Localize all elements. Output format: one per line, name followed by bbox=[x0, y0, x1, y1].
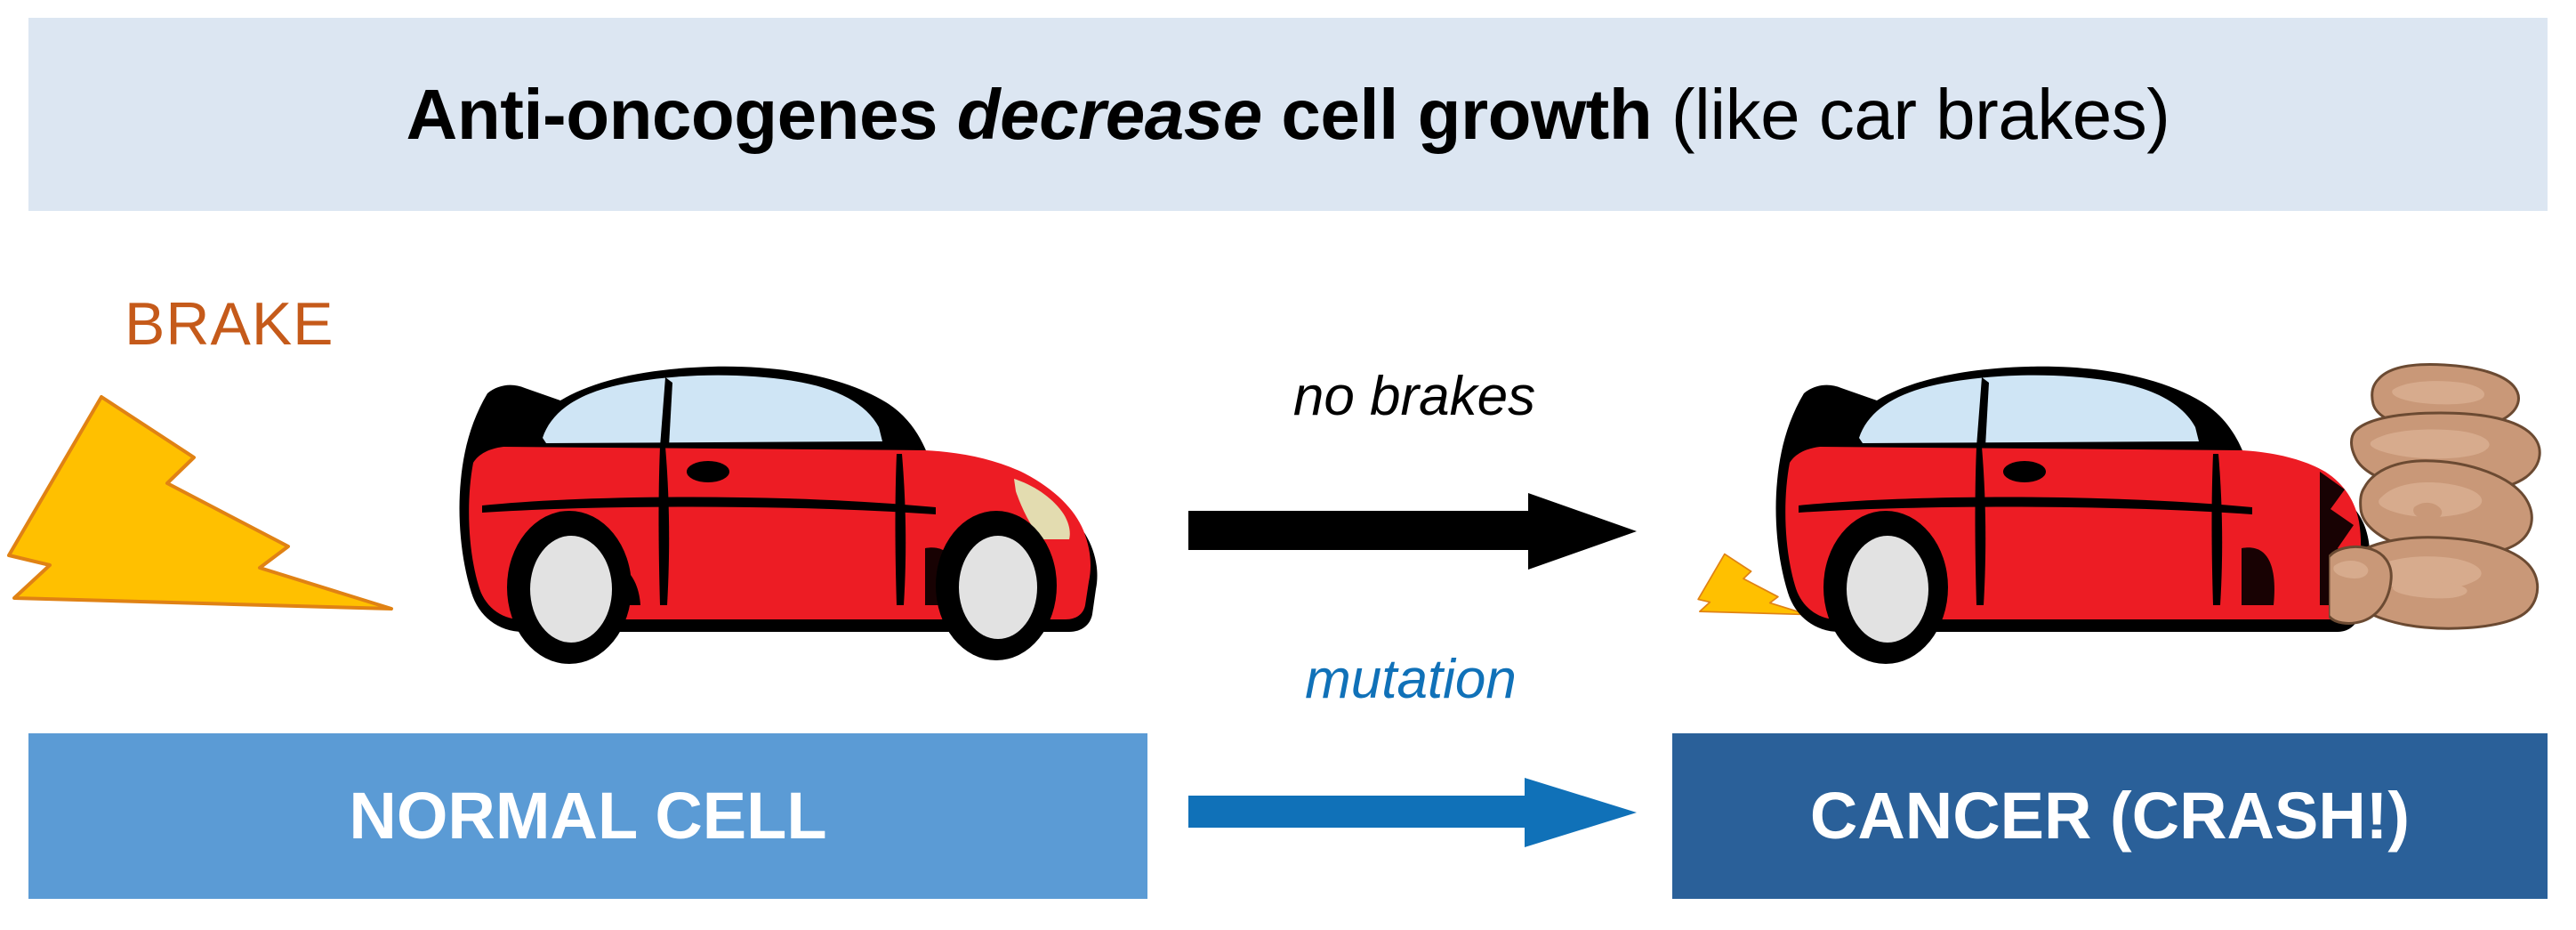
title-part-bold-2: cell growth bbox=[1262, 75, 1653, 154]
cancer-cell-banner: CANCER (CRASH!) bbox=[1672, 733, 2548, 899]
mutation-label: mutation bbox=[1188, 652, 1633, 708]
title-part-bold-1: Anti-oncogenes bbox=[407, 75, 957, 154]
red-car-icon bbox=[427, 338, 1156, 712]
page-title: Anti-oncogenes decrease cell growth (lik… bbox=[407, 79, 2170, 150]
normal-cell-label: NORMAL CELL bbox=[349, 783, 826, 849]
no-brakes-label: no brakes bbox=[1192, 369, 1637, 425]
car-rear-wheel bbox=[507, 511, 632, 664]
right-arrow-icon bbox=[1185, 772, 1640, 853]
rock-pile-icon bbox=[2329, 354, 2576, 710]
cancer-cell-label: CANCER (CRASH!) bbox=[1810, 783, 2410, 849]
right-arrow-icon bbox=[1185, 491, 1640, 571]
brake-label: BRAKE bbox=[125, 294, 334, 354]
title-banner: Anti-oncogenes decrease cell growth (lik… bbox=[28, 18, 2548, 211]
car-rear-wheel bbox=[1823, 511, 1948, 664]
title-part-bold-italic: decrease bbox=[957, 75, 1262, 154]
title-part-regular: (like car brakes) bbox=[1652, 75, 2169, 154]
normal-cell-banner: NORMAL CELL bbox=[28, 733, 1147, 899]
